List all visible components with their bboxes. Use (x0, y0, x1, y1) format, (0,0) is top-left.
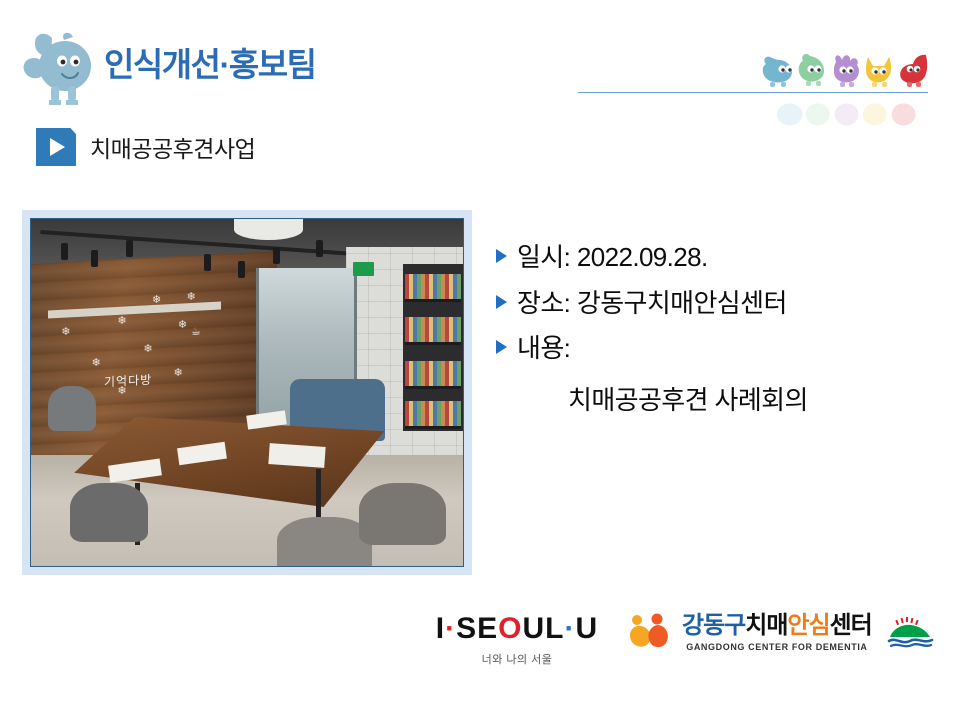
info-place-text: 장소: 강동구치매안심센터 (517, 289, 787, 318)
subtitle-row: 치매공공후견사업 (36, 128, 255, 166)
photo-chair (70, 483, 148, 542)
photo-track-light (316, 240, 323, 257)
i-seoul-u-wordmark: I·SEOUL·U (424, 614, 610, 644)
gangdong-district-emblem-icon (884, 615, 938, 651)
header-divider-rule (578, 92, 928, 93)
photo-wall-text: 기억다방 (104, 370, 152, 390)
subtitle-label: 치매공공후견사업 (90, 130, 255, 164)
info-line-content: 내용: (496, 334, 926, 363)
gangdong-text-gu: 강동구 (682, 612, 745, 639)
iseoulu-part-o: O (498, 612, 522, 645)
i-seoul-u-logo: I·SEOUL·U 너와 나의 서울 (424, 614, 610, 667)
decorative-chicks-reflection (760, 94, 940, 128)
gangdong-people-icon (626, 612, 674, 654)
iseoulu-dot-red: · (445, 612, 456, 645)
photo-chair (277, 517, 372, 567)
gangdong-text-chimae: 치매 (745, 612, 787, 639)
iseoulu-dot-blue: · (565, 612, 576, 645)
photo-track-light (91, 250, 98, 267)
bullet-triangle-icon (496, 340, 507, 354)
bullet-triangle-icon (496, 249, 507, 263)
photo-flake-decal: ❄ (61, 327, 70, 338)
photo-track-light (238, 261, 245, 278)
chick-blue-icon (763, 57, 793, 87)
gangdong-text-center: 센터 (830, 612, 872, 639)
iseoulu-part-ul: UL (523, 612, 565, 645)
chick-red-icon (900, 55, 927, 87)
photo-flake-decal: ❄ (174, 368, 183, 379)
decorative-chicks-row (760, 52, 940, 92)
info-date-text: 일시: 2022.09.28. (517, 243, 708, 272)
gangdong-dementia-center-logo: 강동구치매안심센터 GANGDONG CENTER FOR DEMENTIA (626, 612, 938, 654)
photo-track-light (273, 247, 280, 264)
gangdong-wordmark: 강동구치매안심센터 (682, 614, 872, 638)
chick-yellow-icon (866, 57, 891, 87)
photo-exit-sign (353, 262, 375, 276)
photo-notebook (268, 443, 325, 468)
chick-green-icon (799, 54, 824, 86)
iseoulu-part-se: SE (456, 612, 498, 645)
iseoulu-part-i: I (436, 612, 445, 645)
meeting-photo: ❄ ❄ ❄ ❄ ❄ ❄ ❄ ❄ ❄ ☕ 기억다방 (30, 218, 464, 567)
page-title: 인식개선·홍보팀 (104, 48, 316, 81)
footer-logos: I·SEOUL·U 너와 나의 서울 강동구치매안심센터 GANGDONG CE… (0, 604, 960, 674)
photo-frame: ❄ ❄ ❄ ❄ ❄ ❄ ❄ ❄ ❄ ☕ 기억다방 (22, 210, 472, 575)
chick-purple-icon (834, 55, 859, 87)
play-button-icon (36, 128, 76, 166)
photo-chair (48, 386, 96, 431)
gangdong-text-ansim: 안심 (787, 612, 829, 639)
iseoulu-part-u: U (576, 612, 599, 645)
photo-cup-decal: ☕ (191, 327, 201, 338)
photo-flake-decal: ❄ (152, 295, 161, 306)
photo-shelf-books (405, 274, 461, 302)
photo-track-light (61, 243, 68, 260)
info-line-place: 장소: 강동구치매안심센터 (496, 289, 926, 318)
photo-shelf-books (405, 317, 461, 345)
i-seoul-u-tagline: 너와 나의 서울 (424, 651, 610, 667)
photo-flake-decal: ❄ (187, 292, 196, 303)
photo-flake-decal: ❄ (91, 358, 100, 369)
info-content-label: 내용: (517, 334, 570, 363)
photo-chair (359, 483, 445, 545)
info-line-date: 일시: 2022.09.28. (496, 243, 926, 272)
photo-shelf-books (405, 401, 461, 429)
photo-track-light (204, 254, 211, 271)
gangdong-english-tagline: GANGDONG CENTER FOR DEMENTIA (682, 642, 872, 652)
bullet-triangle-icon (496, 295, 507, 309)
info-content-detail: 치매공공후견 사례회의 (568, 380, 926, 417)
info-list: 일시: 2022.09.28. 장소: 강동구치매안심센터 내용: 치매공공후견… (496, 243, 926, 417)
photo-flake-decal: ❄ (117, 316, 126, 327)
photo-flake-decal: ❄ (178, 320, 187, 331)
photo-flake-decal: ❄ (143, 344, 152, 355)
photo-track-light (126, 240, 133, 257)
gangdong-logo-text: 강동구치매안심센터 GANGDONG CENTER FOR DEMENTIA (682, 614, 872, 652)
photo-ceiling-light (234, 219, 303, 240)
photo-bookshelf (403, 264, 463, 431)
header-mascot-icon (18, 28, 102, 106)
photo-shelf-books (405, 361, 461, 389)
